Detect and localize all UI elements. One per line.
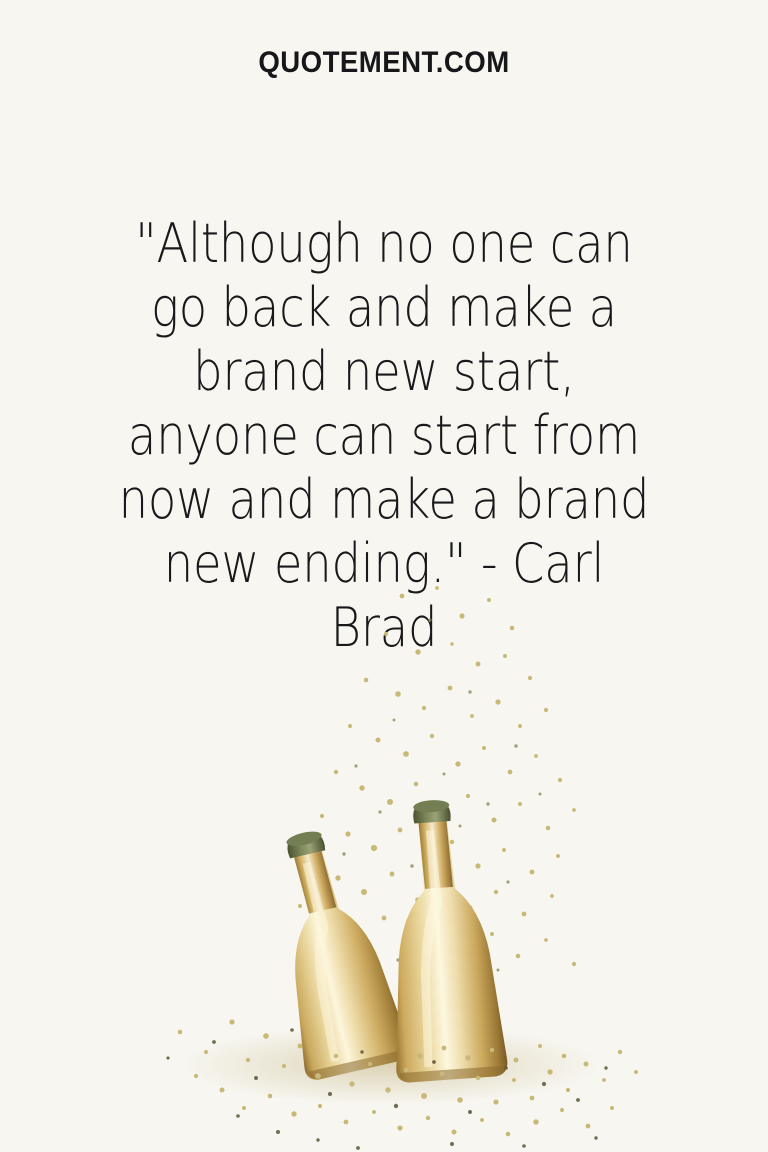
quote-line: brand new start, (97, 340, 671, 404)
quote-line: "Although no one can (97, 212, 671, 276)
champagne-bottles-illustration (0, 560, 768, 1152)
quote-line: now and make a brand (97, 468, 671, 532)
site-brand-wordmark: QUOTEMENT.COM (31, 48, 738, 78)
right-bottle (378, 796, 509, 1083)
quote-line: anyone can start from (97, 404, 671, 468)
quote-line: go back and make a (97, 276, 671, 340)
quote-poster: QUOTEMENT.COM "Although no one can go ba… (0, 0, 768, 1152)
